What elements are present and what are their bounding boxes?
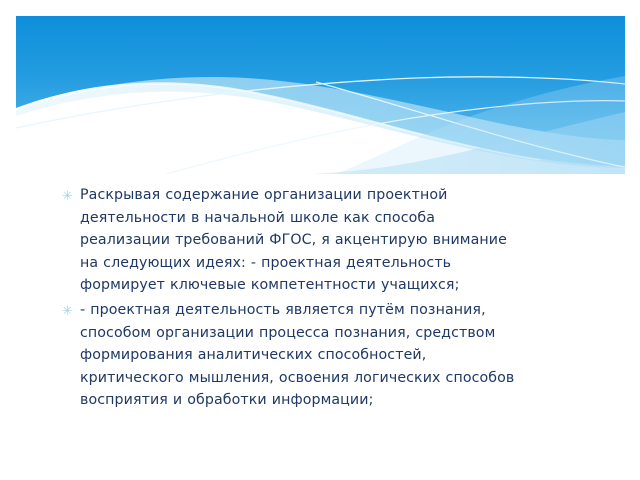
- list-item: ✳ Раскрывая содержание организации проек…: [62, 184, 524, 297]
- asterisk-bullet-icon: ✳: [62, 300, 80, 323]
- asterisk-bullet-icon: ✳: [62, 185, 80, 208]
- bullet-paragraph-1: Раскрывая содержание организации проектн…: [80, 184, 524, 297]
- blue-wave-banner: [16, 16, 625, 174]
- list-item: ✳ - проектная деятельность является путё…: [62, 299, 524, 412]
- banner-graphic: [16, 16, 625, 174]
- bullet-paragraph-2: - проектная деятельность является путём …: [80, 299, 524, 412]
- presentation-slide: ✳ Раскрывая содержание организации проек…: [0, 0, 640, 480]
- slide-body: ✳ Раскрывая содержание организации проек…: [62, 184, 524, 414]
